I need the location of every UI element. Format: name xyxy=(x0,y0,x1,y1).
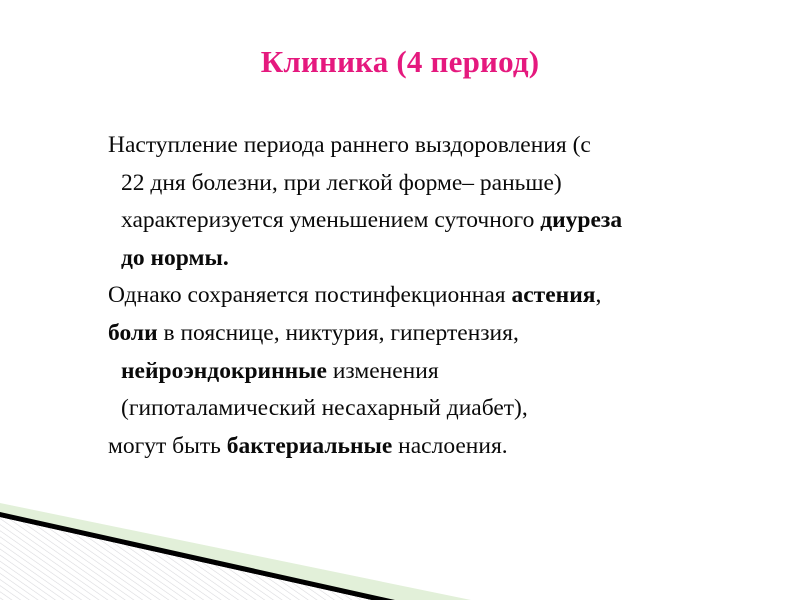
black-wedge-shape xyxy=(0,512,395,600)
line-2: 22 дня болезни, при легкой форме– раньше… xyxy=(108,165,780,203)
line-4: до нормы. xyxy=(108,240,780,278)
slide-body-text: Наступление периода раннего выздоровлени… xyxy=(108,127,780,465)
line-8: (гипоталамический несахарный диабет), xyxy=(108,390,780,428)
line-9: могут быть бактериальные наслоения. xyxy=(108,428,780,466)
line-7-segment-1: нейроэндокринные xyxy=(121,358,327,384)
line-7-segment-2: изменения xyxy=(327,358,439,384)
line-1: Наступление периода раннего выздоровлени… xyxy=(108,127,780,165)
line-2-segment-1: 22 дня болезни, при легкой форме– раньше… xyxy=(121,170,562,196)
line-5-segment-2: астения xyxy=(512,282,596,308)
hatched-triangle-shape xyxy=(0,517,372,600)
line-9-segment-3: наслоения. xyxy=(392,433,507,459)
line-6-segment-2: в пояснице, никтурия, гипертензия, xyxy=(158,320,519,346)
line-5: Однако сохраняется постинфекционная асте… xyxy=(108,277,780,315)
line-9-segment-1: могут быть xyxy=(108,433,227,459)
line-9-segment-2: бактериальные xyxy=(227,433,393,459)
line-3-segment-1: характеризуется уменьшением суточного xyxy=(121,207,540,233)
line-4-segment-1: до нормы. xyxy=(121,245,229,271)
line-6-segment-1: боли xyxy=(108,320,158,346)
line-1-segment-1: Наступление периода раннего выздоровлени… xyxy=(108,132,591,158)
line-3-segment-2: диуреза xyxy=(540,207,622,233)
line-5-segment-1: Однако сохраняется постинфекционная xyxy=(108,282,512,308)
page-title: Клиника (4 период) xyxy=(0,44,800,80)
line-3: характеризуется уменьшением суточного ди… xyxy=(108,202,780,240)
line-7: нейроэндокринные изменения xyxy=(108,353,780,391)
slide-canvas: Клиника (4 период) Наступление периода р… xyxy=(0,0,800,600)
line-5-segment-3: , xyxy=(595,282,601,308)
green-band-shape xyxy=(0,503,471,600)
line-6: боли в пояснице, никтурия, гипертензия, xyxy=(108,315,780,353)
line-8-segment-1: (гипоталамический несахарный диабет), xyxy=(121,395,528,421)
